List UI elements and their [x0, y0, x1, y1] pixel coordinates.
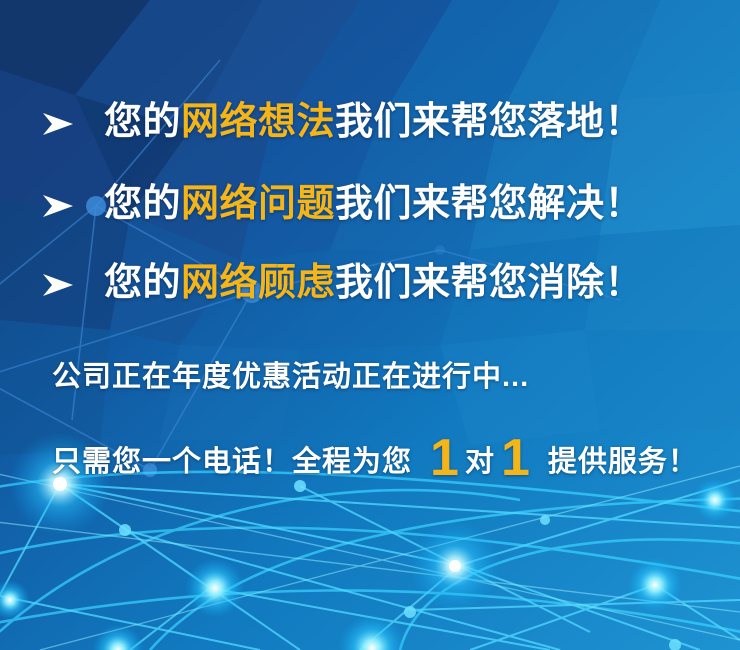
- promo-number-one-second: 1: [495, 432, 536, 484]
- slogan-text-1: 您的网络想法我们来帮您落地！: [104, 103, 643, 141]
- promo-line-2-middle: 对: [465, 448, 495, 477]
- slogan-1-highlight: 网络想法: [181, 101, 335, 143]
- slogan-text-2: 您的网络问题我们来帮您解决！: [104, 185, 643, 223]
- slogan-2-suffix: 我们来帮您解决！: [335, 183, 643, 225]
- slogan-1-prefix: 您的: [104, 101, 181, 143]
- promo-line-2: 只需您一个电话！全程为您 1 对 1 提供服务！: [52, 428, 698, 480]
- slogan-2-prefix: 您的: [104, 183, 181, 225]
- slogan-row-3: 您的网络顾虑我们来帮您消除！: [40, 264, 643, 302]
- arrow-right-icon: [40, 189, 76, 223]
- promo-line-1: 公司正在年度优惠活动正在进行中...: [52, 363, 529, 392]
- promo-banner: 您的网络想法我们来帮您落地！ 您的网络问题我们来帮您解决！ 您的网络顾虑我们: [0, 0, 740, 650]
- slogan-3-suffix: 我们来帮您消除！: [335, 262, 643, 304]
- slogan-text-3: 您的网络顾虑我们来帮您消除！: [104, 264, 643, 302]
- slogan-row-1: 您的网络想法我们来帮您落地！: [40, 103, 643, 141]
- slogan-2-highlight: 网络问题: [181, 183, 335, 225]
- slogan-1-suffix: 我们来帮您落地！: [335, 101, 643, 143]
- promo-line-2-part1: 只需您一个电话！全程为您: [52, 448, 412, 477]
- slogan-3-highlight: 网络顾虑: [181, 262, 335, 304]
- banner-content: 您的网络想法我们来帮您落地！ 您的网络问题我们来帮您解决！ 您的网络顾虑我们: [0, 0, 740, 650]
- slogan-3-prefix: 您的: [104, 262, 181, 304]
- slogan-row-2: 您的网络问题我们来帮您解决！: [40, 185, 643, 223]
- arrow-right-icon: [40, 268, 76, 302]
- promo-line-1-text: 公司正在年度优惠活动正在进行中...: [52, 363, 529, 392]
- promo-line-2-part2: 提供服务！: [548, 448, 698, 477]
- arrow-right-icon: [40, 107, 76, 141]
- promo-number-one-first: 1: [424, 432, 465, 484]
